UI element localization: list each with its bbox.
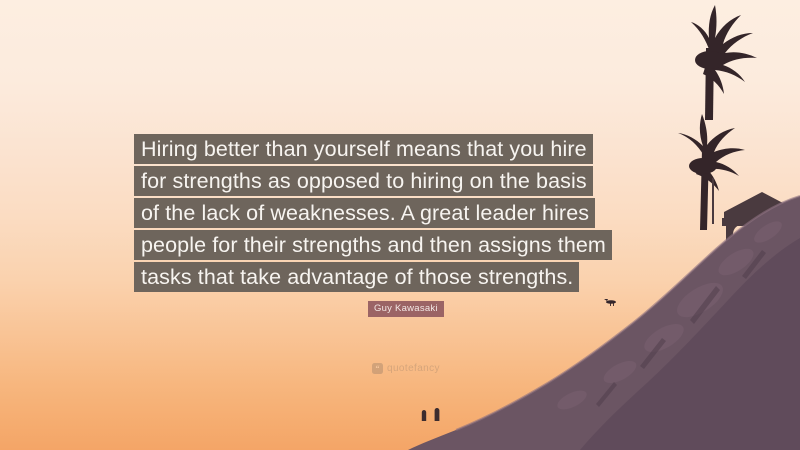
watermark-label: quotefancy [387, 363, 440, 374]
quote-line: Hiring better than yourself means that y… [134, 134, 593, 164]
quote-line: for strengths as opposed to hiring on th… [134, 166, 593, 196]
palm-tree-short-icon [678, 114, 745, 230]
bird-icon [604, 299, 616, 306]
people-icon [422, 408, 440, 421]
watermark: “ quotefancy [372, 363, 440, 374]
pavilion-icon [712, 178, 800, 267]
author-attribution: Guy Kawasaki [368, 301, 444, 317]
quote-poster: Hiring better than yourself means that y… [0, 0, 800, 450]
quote-line: of the lack of weaknesses. A great leade… [134, 198, 595, 228]
quote-line: people for their strengths and then assi… [134, 230, 612, 260]
quote-text-block: Hiring better than yourself means that y… [134, 134, 668, 294]
quote-mark-icon: “ [372, 363, 383, 374]
quote-line: tasks that take advantage of those stren… [134, 262, 579, 292]
palm-tree-tall-icon [691, 5, 757, 120]
